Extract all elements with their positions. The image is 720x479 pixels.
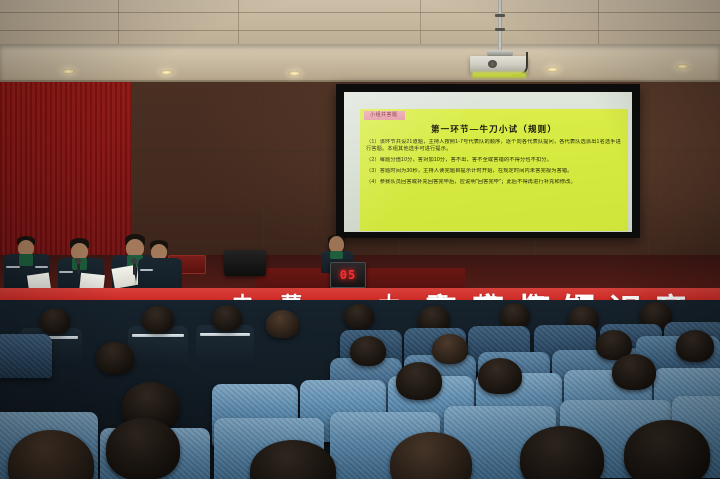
- screen-mat: 小组共答题 第一环节—牛刀小试（规则） （1）该环节共设21道题，主持人按照1-…: [344, 92, 632, 232]
- ceiling-seam: [238, 0, 239, 46]
- audience-head: [106, 418, 180, 479]
- timer-digits: 05: [340, 268, 356, 282]
- audience-head: [212, 305, 242, 331]
- contestant-person: [4, 236, 50, 296]
- auditorium-photo: 小组共答题 第一环节—牛刀小试（规则） （1）该环节共设21道题，主持人按照1-…: [0, 0, 720, 479]
- ceiling: [0, 0, 720, 46]
- audience-head: [344, 304, 374, 329]
- audience-head: [142, 306, 174, 333]
- microphone-head-icon: [75, 258, 81, 264]
- slide-rule-line: （4）参赛队员回答或补充回答完毕后，应说明"回答完毕"；此后不得再进行补充和修改…: [366, 179, 622, 186]
- slide-rule-line: （3）答题时间为30秒，主持人读完题目提示计时开始，在规定时间内未答完视为答错。: [366, 168, 622, 175]
- audience-head: [40, 308, 70, 334]
- uniform-reflective-stripe: [200, 333, 250, 336]
- downlight-icon: [288, 71, 301, 76]
- projector-mount-band: [495, 14, 505, 17]
- ceiling-seam: [0, 12, 720, 13]
- speaker-icon: [224, 250, 266, 276]
- downlight-icon: [62, 69, 75, 74]
- projection-screen: 小组共答题 第一环节—牛刀小试（规则） （1）该环节共设21道题，主持人按照1-…: [336, 84, 640, 238]
- uniform-reflective-stripe: [140, 269, 153, 271]
- presentation-slide: 小组共答题 第一环节—牛刀小试（规则） （1）该环节共设21道题，主持人按照1-…: [360, 109, 628, 231]
- uniform-reflective-stripe: [59, 271, 73, 273]
- microphone-head-icon: [131, 258, 137, 264]
- audience-head: [676, 330, 714, 362]
- uniform-back: [196, 325, 254, 367]
- downlight-icon: [160, 70, 173, 75]
- ceiling-seam: [0, 30, 720, 31]
- projector-light-beam: [472, 72, 526, 78]
- audience-area: [0, 300, 720, 479]
- downlight-icon: [546, 67, 559, 72]
- uniform-reflective-stripe: [6, 266, 20, 268]
- slide-title: 第一环节—牛刀小试（规则）: [360, 123, 628, 135]
- audience-head: [350, 336, 386, 366]
- uniform-reflective-stripe: [132, 334, 184, 337]
- contestant-scarf: [19, 254, 33, 266]
- slide-badge: 小组共答题: [364, 111, 405, 120]
- audience-seat: [0, 334, 52, 378]
- slide-rule-line: （1）该环节共设21道题，主持人按照1-7号代表队的顺序，逐个向各代表队提问，各…: [366, 139, 622, 152]
- audience-head: [266, 310, 299, 338]
- projector-lens-icon: [488, 60, 497, 68]
- audience-head: [96, 342, 134, 374]
- ceiling-seam: [118, 0, 119, 46]
- audience-head: [478, 358, 522, 394]
- countdown-timer-display: 05: [330, 262, 366, 288]
- audience-head: [432, 334, 468, 364]
- audience-head: [612, 354, 656, 390]
- slide-rule-line: （2）每题分值10分，答对加10分，答不出、答不全或答错的不得分也不扣分。: [366, 157, 622, 164]
- projector-mount-band: [495, 28, 505, 31]
- audience-head: [396, 362, 442, 400]
- host-scarf: [330, 251, 343, 259]
- audience-head: [500, 303, 530, 328]
- projector-mount-pole: [498, 0, 502, 50]
- ceiling-seam: [598, 0, 599, 46]
- uniform-reflective-stripe: [35, 266, 48, 268]
- slide-body: （1）该环节共设21道题，主持人按照1-7号代表队的顺序，逐个向各代表队提问，各…: [366, 139, 622, 190]
- downlight-icon: [676, 64, 689, 69]
- ceiling-seam: [420, 0, 421, 46]
- audience-head: [624, 420, 710, 479]
